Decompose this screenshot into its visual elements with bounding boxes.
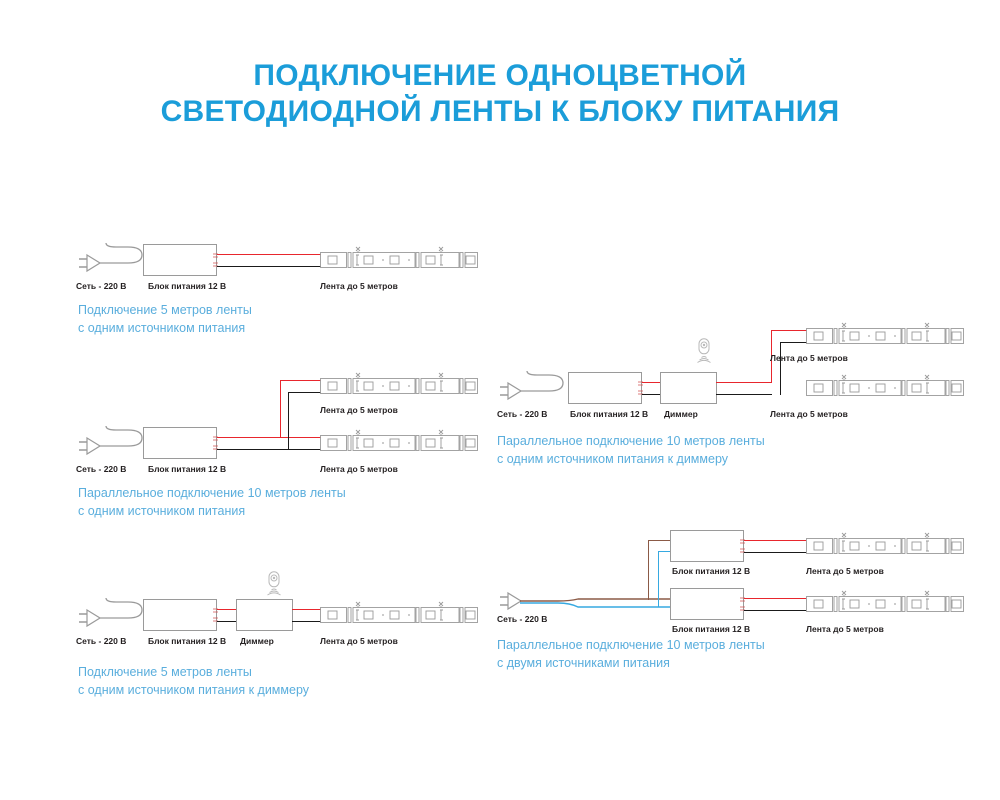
label-psu: Блок питания 12 В <box>148 636 226 646</box>
caption-line-1: Подключение 5 метров ленты <box>78 301 252 319</box>
power-supply-unit <box>568 372 642 404</box>
wire-positive-upper <box>771 330 807 331</box>
wire-positive-upper <box>744 540 806 541</box>
power-supply-unit <box>143 599 217 631</box>
led-strip-lower <box>806 374 964 400</box>
wire-negative-riser <box>288 392 289 450</box>
psu-terminals <box>637 378 649 398</box>
wire-line-upper <box>648 540 671 541</box>
wire-negative-upper <box>288 392 321 393</box>
label-mains: Сеть - 220 В <box>76 636 126 646</box>
label-strip-lower: Лента до 5 метров <box>770 409 848 419</box>
label-strip-upper: Лента до 5 метров <box>770 353 848 363</box>
caption-line-2: с двумя источниками питания <box>497 654 765 672</box>
wire-positive-lower <box>217 437 321 438</box>
label-mains: Сеть - 220 В <box>497 409 547 419</box>
label-strip: Лента до 5 метров <box>320 636 398 646</box>
wire-neutral-riser <box>658 551 659 607</box>
led-strip-upper <box>806 322 964 348</box>
caption-line-2: с одним источником питания <box>78 319 252 337</box>
wire-positive-riser <box>280 380 281 438</box>
label-mains: Сеть - 220 В <box>497 614 547 624</box>
label-strip-upper: Лента до 5 метров <box>806 566 884 576</box>
psu-terminals-upper <box>739 536 751 556</box>
label-psu-upper: Блок питания 12 В <box>672 566 750 576</box>
wire-negative-upper <box>744 552 806 553</box>
label-psu: Блок питания 12 В <box>148 281 226 291</box>
led-strip-lower <box>806 590 964 616</box>
mains-twin-cable <box>518 590 678 616</box>
psu-terminals <box>212 250 224 270</box>
label-strip-upper: Лента до 5 метров <box>320 405 398 415</box>
wire-positive-lower <box>744 598 806 599</box>
wire-dimmer-to-strip-negative <box>292 621 321 622</box>
wire-negative-lower <box>716 394 772 395</box>
wire-negative-lower <box>744 610 806 611</box>
caption-line-2: с одним источником питания к диммеру <box>78 681 309 699</box>
label-mains: Сеть - 220 В <box>76 281 126 291</box>
wire-psu-to-dimmer-negative <box>217 621 237 622</box>
page-title-line-2: СВЕТОДИОДНОЙ ЛЕНТЫ К БЛОКУ ПИТАНИЯ <box>0 94 1000 130</box>
wire-dimmer-to-strip-positive <box>292 609 321 610</box>
caption-parallel-10m-one-psu: Параллельное подключение 10 метров ленты… <box>78 484 346 520</box>
power-supply-unit <box>143 244 217 276</box>
psu-terminals-lower <box>739 594 751 614</box>
wire-positive-upper <box>280 380 321 381</box>
caption-line-1: Параллельное подключение 10 метров ленты <box>497 432 765 450</box>
label-psu: Блок питания 12 В <box>570 409 648 419</box>
caption-line-1: Параллельное подключение 10 метров ленты <box>497 636 765 654</box>
psu-terminals <box>212 605 224 625</box>
led-strip-upper <box>320 372 478 398</box>
label-dimmer: Диммер <box>664 409 698 419</box>
page-title: ПОДКЛЮЧЕНИЕ ОДНОЦВЕТНОЙ СВЕТОДИОДНОЙ ЛЕН… <box>0 58 1000 130</box>
led-strip <box>320 246 478 272</box>
caption-single-5m-dimmer: Подключение 5 метров ленты с одним источ… <box>78 663 309 699</box>
caption-line-1: Параллельное подключение 10 метров ленты <box>78 484 346 502</box>
remote-control-icon <box>262 571 286 599</box>
power-supply-unit <box>143 427 217 459</box>
led-strip <box>320 601 478 627</box>
wire-negative-lower <box>217 449 321 450</box>
power-supply-unit-upper <box>670 530 744 562</box>
power-supply-unit-lower <box>670 588 744 620</box>
caption-parallel-10m-dimmer: Параллельное подключение 10 метров ленты… <box>497 432 765 468</box>
caption-line-2: с одним источником питания <box>78 502 346 520</box>
label-dimmer: Диммер <box>240 636 274 646</box>
label-psu-lower: Блок питания 12 В <box>672 624 750 634</box>
page-title-line-1: ПОДКЛЮЧЕНИЕ ОДНОЦВЕТНОЙ <box>253 59 746 92</box>
dimmer-unit <box>236 599 293 631</box>
wire-line-riser <box>648 540 649 600</box>
caption-line-1: Подключение 5 метров ленты <box>78 663 309 681</box>
wire-positive-lower <box>716 382 772 383</box>
label-strip: Лента до 5 метров <box>320 281 398 291</box>
label-strip-lower: Лента до 5 метров <box>806 624 884 634</box>
remote-control-icon <box>692 338 716 368</box>
wire-psu-to-dimmer-positive <box>642 382 661 383</box>
wire-psu-to-dimmer-positive <box>217 609 237 610</box>
wire-psu-to-dimmer-negative <box>642 394 661 395</box>
label-strip-lower: Лента до 5 метров <box>320 464 398 474</box>
caption-line-2: с одним источником питания к диммеру <box>497 450 765 468</box>
caption-single-5m: Подключение 5 метров ленты с одним источ… <box>78 301 252 337</box>
led-strip-upper <box>806 532 964 558</box>
wire-negative-upper <box>780 342 807 343</box>
dimmer-unit <box>660 372 717 404</box>
led-strip-lower <box>320 429 478 455</box>
label-mains: Сеть - 220 В <box>76 464 126 474</box>
caption-parallel-10m-two-psu: Параллельное подключение 10 метров ленты… <box>497 636 765 672</box>
wire-negative <box>217 266 321 267</box>
psu-terminals <box>212 433 224 453</box>
mains-cable <box>519 366 575 398</box>
wire-positive <box>217 254 321 255</box>
wire-negative-riser <box>780 342 781 395</box>
label-psu: Блок питания 12 В <box>148 464 226 474</box>
